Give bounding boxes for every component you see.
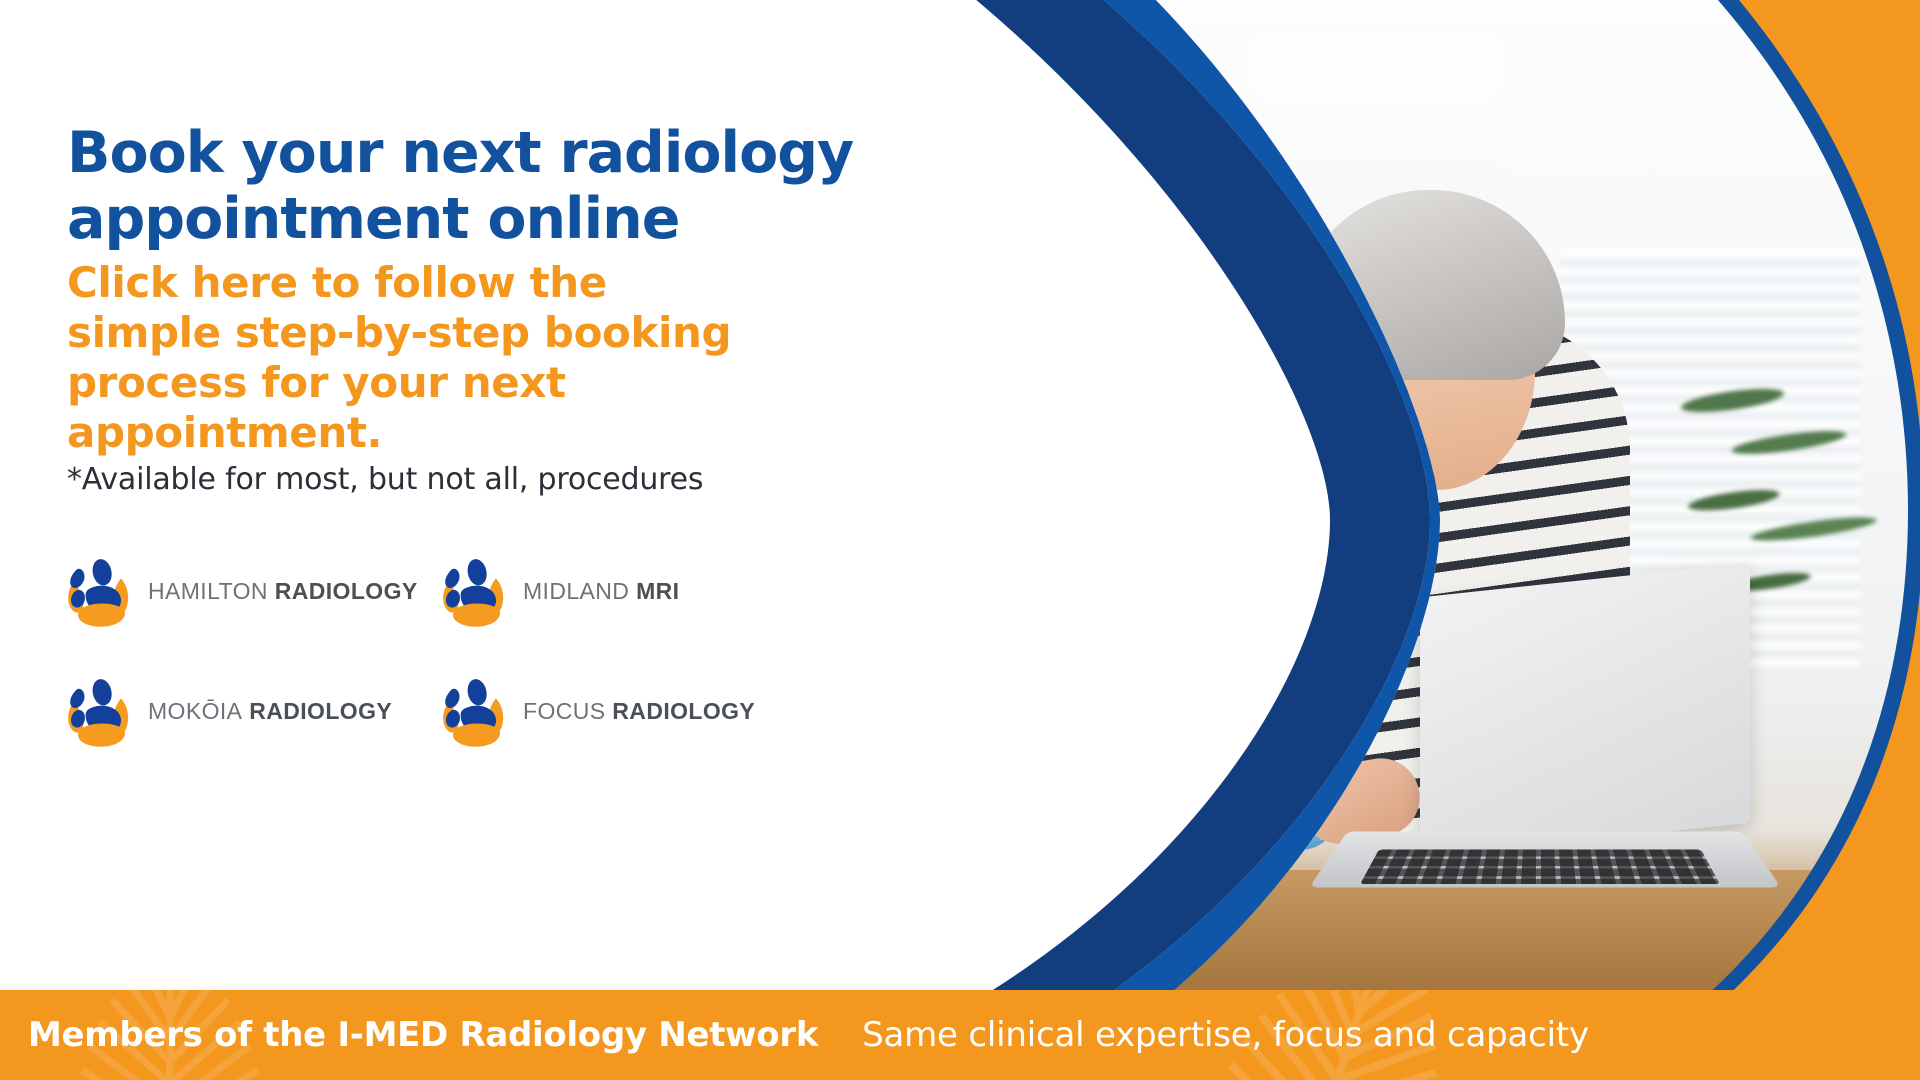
disclaimer-text: *Available for most, but not all, proced…	[67, 462, 827, 497]
brand-logo-row: HAMILTON RADIOLOGY MIDLAND MRI	[60, 552, 790, 630]
footer-network-text: Members of the I-MED Radiology Network	[28, 1015, 818, 1055]
hero-art-panel	[900, 0, 1920, 990]
brand-focus-radiology[interactable]: FOCUS RADIOLOGY	[435, 672, 775, 750]
brand-midland-mri[interactable]: MIDLAND MRI	[435, 552, 775, 630]
imed-people-icon	[60, 672, 138, 750]
brand-label: MIDLAND MRI	[523, 578, 679, 605]
imed-people-icon	[435, 552, 513, 630]
imed-people-icon	[60, 552, 138, 630]
imed-people-icon	[435, 672, 513, 750]
brand-label: MOKŌIA RADIOLOGY	[148, 698, 392, 725]
brand-logo-grid: HAMILTON RADIOLOGY MIDLAND MRI	[60, 552, 790, 792]
cta-text[interactable]: Click here to follow the simple step-by-…	[67, 258, 767, 458]
footer-bar: Members of the I-MED Radiology Network S…	[0, 990, 1920, 1080]
brand-hamilton-radiology[interactable]: HAMILTON RADIOLOGY	[60, 552, 435, 630]
page-title: Book your next radiology appointment onl…	[67, 120, 857, 252]
brand-label: FOCUS RADIOLOGY	[523, 698, 755, 725]
content-panel: Book your next radiology appointment onl…	[0, 0, 900, 990]
brand-logo-row: MOKŌIA RADIOLOGY FOCUS RADIOLOGY	[60, 672, 790, 750]
brand-mokoia-radiology[interactable]: MOKŌIA RADIOLOGY	[60, 672, 435, 750]
banner-root: Book your next radiology appointment onl…	[0, 0, 1920, 1080]
footer-tagline-text: Same clinical expertise, focus and capac…	[862, 1015, 1589, 1055]
brand-label: HAMILTON RADIOLOGY	[148, 578, 418, 605]
hero-art-svg	[900, 0, 1920, 990]
